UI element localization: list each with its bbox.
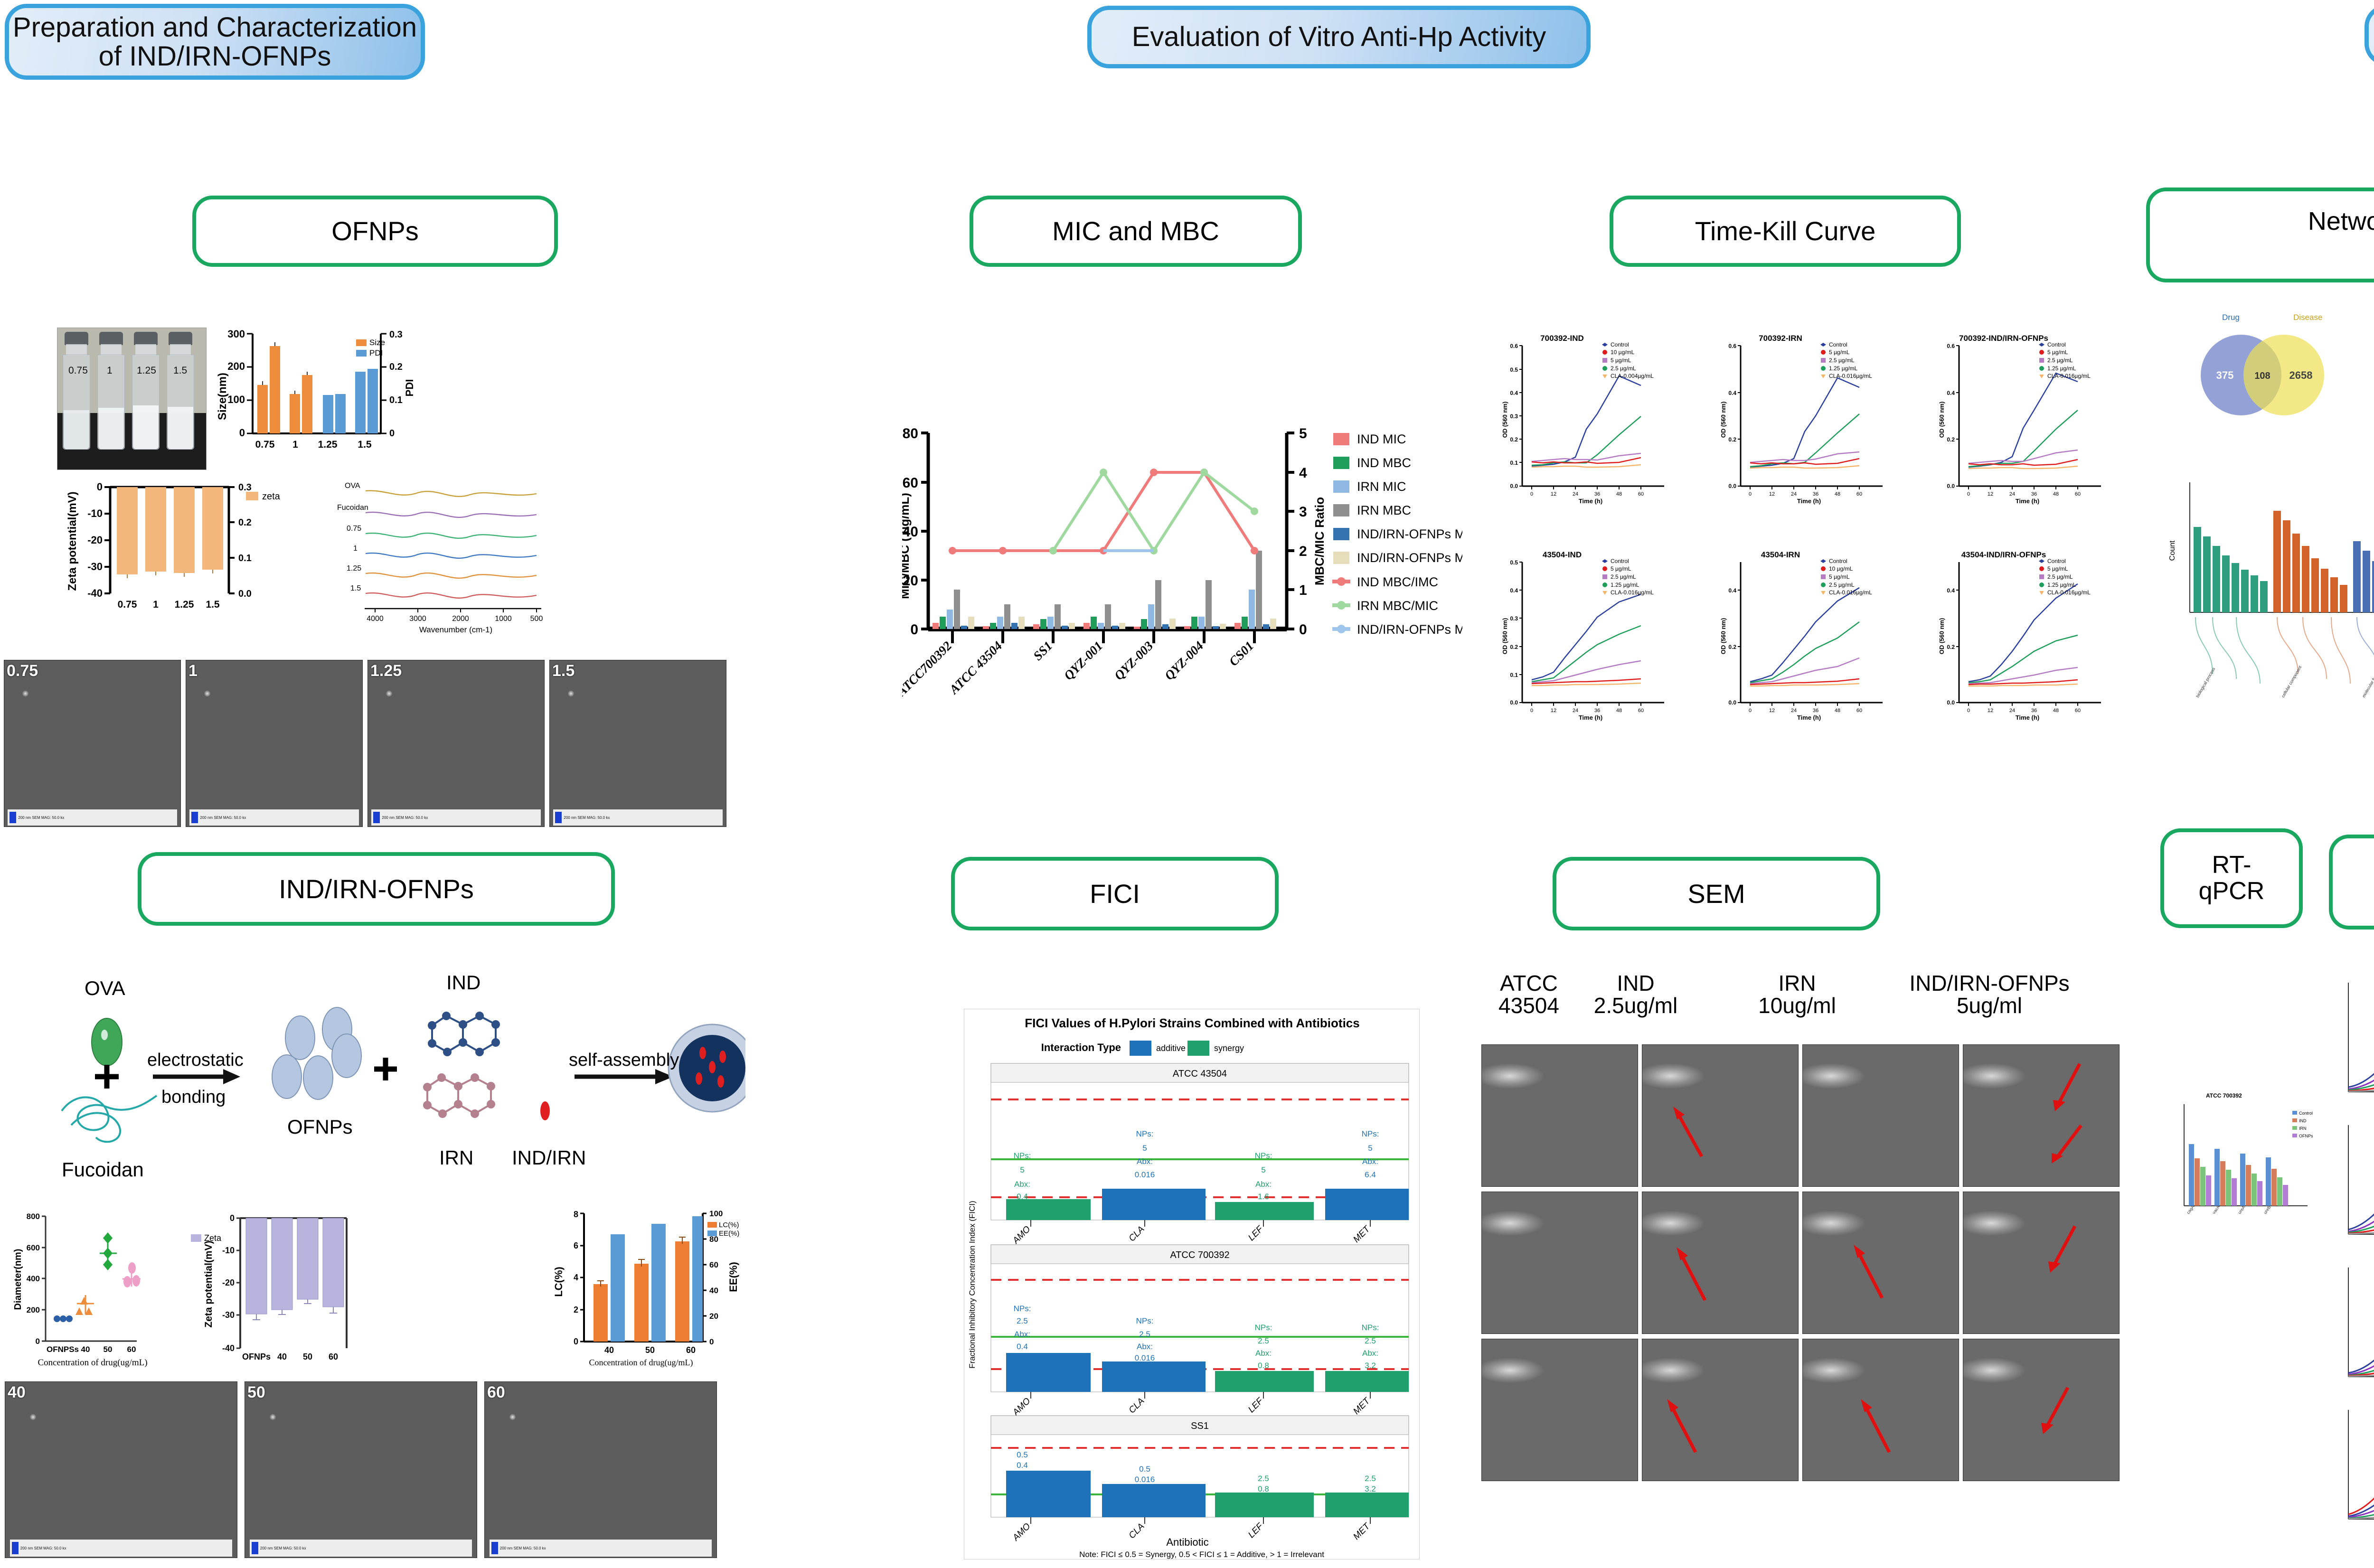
svg-text:0: 0 xyxy=(1749,491,1752,497)
svg-text:0.4: 0.4 xyxy=(1510,587,1518,594)
svg-text:0.2: 0.2 xyxy=(1728,436,1736,443)
svg-text:40: 40 xyxy=(81,1345,90,1354)
sem-cell xyxy=(1802,1044,1959,1187)
svg-text:60: 60 xyxy=(1638,708,1644,714)
svg-text:43504-IRN: 43504-IRN xyxy=(1761,550,1800,559)
svg-text:ATCC 700392: ATCC 700392 xyxy=(2206,1092,2242,1099)
svg-text:SS1: SS1 xyxy=(1191,1421,1209,1431)
sem-tile: 1.5 200 nm SEM MAG: 50.0 kx xyxy=(549,660,726,827)
svg-text:1.25: 1.25 xyxy=(318,439,338,450)
svg-text:IND MBC/IMC: IND MBC/IMC xyxy=(1357,575,1438,589)
svg-text:1.5: 1.5 xyxy=(358,439,372,450)
svg-text:48: 48 xyxy=(1616,708,1622,714)
chart-ftir: OVA Fucoidan 0.75 1 1.25 1.5 40003000 20… xyxy=(299,475,556,636)
svg-text:1.25 µg/mL: 1.25 µg/mL xyxy=(1829,365,1858,372)
svg-text:Control: Control xyxy=(1611,341,1629,348)
svg-text:0.4: 0.4 xyxy=(1728,587,1736,594)
vial-label: 1.5 xyxy=(173,365,187,376)
svg-text:ATCC 43504: ATCC 43504 xyxy=(1173,1069,1227,1079)
svg-text:AMO: AMO xyxy=(1010,1396,1032,1418)
svg-text:IND/IRN-OFNPs MBC: IND/IRN-OFNPs MBC xyxy=(1357,551,1462,565)
svg-text:4: 4 xyxy=(1299,465,1307,481)
chart-mic-mbc: 020 406080 01 23 45 MIC/MBC ( ug/mL) MBC… xyxy=(902,404,1462,745)
svg-text:Time (h): Time (h) xyxy=(1579,714,1602,721)
svg-text:12: 12 xyxy=(1769,708,1775,714)
svg-text:0.4: 0.4 xyxy=(1728,390,1736,396)
svg-text:700392-IND/IRN-OFNPs: 700392-IND/IRN-OFNPs xyxy=(1959,334,2048,343)
svg-text:NPs:: NPs: xyxy=(1014,1151,1031,1160)
svg-text:5: 5 xyxy=(1142,1144,1147,1153)
svg-text:-10: -10 xyxy=(222,1246,235,1255)
svg-text:10 µg/mL: 10 µg/mL xyxy=(1611,349,1635,356)
svg-text:0.0: 0.0 xyxy=(1947,483,1955,489)
sem-col-header: ATCC 43504 xyxy=(1481,972,1576,1017)
svg-text:500: 500 xyxy=(530,615,543,623)
svg-text:50: 50 xyxy=(645,1345,655,1355)
svg-text:-10: -10 xyxy=(87,507,103,519)
svg-text:OD (560 nm): OD (560 nm) xyxy=(1938,618,1945,655)
vial-label: 0.75 xyxy=(68,365,88,376)
svg-text:40: 40 xyxy=(709,1286,718,1295)
lc-ee-svg: 02 468 020 4060 80100 LC(%) EE(%) 405060… xyxy=(546,1206,750,1372)
svg-text:Concentration of drug(ug/mL): Concentration of drug(ug/mL) xyxy=(589,1358,693,1368)
svg-text:NPs:: NPs: xyxy=(1014,1304,1031,1313)
svg-text:400: 400 xyxy=(27,1274,40,1283)
svg-text:12: 12 xyxy=(1769,491,1775,497)
sem-tile-group-bottom: 40 200 nm SEM MAG: 50.0 kx 50 200 nm SEM… xyxy=(5,1381,731,1562)
svg-text:60: 60 xyxy=(2075,491,2081,497)
svg-text:0.5: 0.5 xyxy=(1139,1465,1150,1474)
svg-text:3.2: 3.2 xyxy=(1365,1484,1376,1493)
svg-text:0.5: 0.5 xyxy=(1510,366,1518,373)
svg-text:IND MIC: IND MIC xyxy=(1357,432,1406,446)
svg-text:8: 8 xyxy=(574,1210,578,1219)
svg-text:Abx:: Abx: xyxy=(1255,1349,1272,1358)
svg-text:375: 375 xyxy=(2216,369,2234,381)
svg-text:2: 2 xyxy=(574,1305,578,1314)
svg-text:Time (h): Time (h) xyxy=(1797,498,1821,505)
label-self-assembly: self-assembly xyxy=(569,1050,679,1070)
svg-text:80: 80 xyxy=(903,426,918,441)
sem-col-header: IND 2.5ug/ml xyxy=(1583,972,1688,1017)
svg-text:0.8: 0.8 xyxy=(1258,1361,1269,1370)
svg-text:0.4: 0.4 xyxy=(1510,390,1518,396)
svg-text:OFNPs: OFNPs xyxy=(2299,1134,2313,1138)
section-sem: SEM xyxy=(1553,857,1880,930)
sem-tile-label: 1 xyxy=(188,662,198,680)
svg-text:0: 0 xyxy=(1530,491,1533,497)
svg-text:LC(%): LC(%) xyxy=(553,1267,565,1297)
svg-text:2.5: 2.5 xyxy=(1258,1336,1269,1345)
svg-text:-40: -40 xyxy=(222,1343,235,1353)
svg-text:EE(%): EE(%) xyxy=(719,1230,739,1238)
svg-text:OFNPs: OFNPs xyxy=(242,1352,271,1361)
svg-text:0.3: 0.3 xyxy=(1510,615,1518,622)
sem-cell xyxy=(1802,1192,1959,1334)
svg-text:0.8: 0.8 xyxy=(1258,1484,1269,1493)
svg-text:3000: 3000 xyxy=(409,615,426,623)
sem-scalebar: 200 nm SEM MAG: 50.0 kx xyxy=(10,1539,232,1557)
svg-text:0.0: 0.0 xyxy=(1510,483,1518,489)
sem-scalebar-text: 200 nm SEM MAG: 50.0 kx xyxy=(20,1546,66,1550)
svg-text:0.4: 0.4 xyxy=(1017,1342,1028,1351)
svg-text:36: 36 xyxy=(1594,491,1600,497)
sem-scalebar-text: 200 nm SEM MAG: 50.0 kx xyxy=(18,816,64,820)
sem-scalebar: 200 nm SEM MAG: 50.0 kx xyxy=(371,809,540,826)
sem-scalebar: 200 nm SEM MAG: 50.0 kx xyxy=(8,809,177,826)
svg-text:2.5 µg/mL: 2.5 µg/mL xyxy=(2047,357,2073,364)
svg-text:2.5 µg/mL: 2.5 µg/mL xyxy=(2047,573,2073,580)
section-label: FICI xyxy=(1090,880,1140,908)
sem-scalebar: 200 nm SEM MAG: 50.0 kx xyxy=(553,809,722,826)
svg-text:1.25: 1.25 xyxy=(347,564,361,573)
svg-text:2.5: 2.5 xyxy=(1365,1336,1376,1345)
svg-text:24: 24 xyxy=(2009,491,2015,497)
svg-text:AMO: AMO xyxy=(1010,1521,1032,1543)
sem-tile: 40 200 nm SEM MAG: 50.0 kx xyxy=(5,1381,237,1558)
svg-text:0.3: 0.3 xyxy=(389,329,403,340)
svg-text:48: 48 xyxy=(1835,708,1840,714)
svg-text:-40: -40 xyxy=(87,587,103,599)
svg-text:FICI Values of H.Pylori Strain: FICI Values of H.Pylori Strains Combined… xyxy=(1025,1016,1359,1030)
svg-text:24: 24 xyxy=(1791,491,1797,497)
header-line: Evaluation of Vitro Anti-Hp Activity xyxy=(1132,22,1546,51)
svg-text:60: 60 xyxy=(1638,491,1644,497)
svg-text:MET: MET xyxy=(1351,1521,1372,1542)
sem-cell xyxy=(1642,1044,1799,1187)
svg-text:Abx:: Abx: xyxy=(1014,1180,1030,1189)
svg-text:48: 48 xyxy=(1616,491,1622,497)
label-irn: IRN xyxy=(439,1146,473,1169)
svg-text:MET: MET xyxy=(1351,1224,1372,1245)
svg-text:5: 5 xyxy=(1020,1165,1024,1174)
svg-text:ATCC 700392: ATCC 700392 xyxy=(1170,1250,1229,1260)
svg-text:CLA-0.016µg/mL: CLA-0.016µg/mL xyxy=(1829,589,1872,596)
svg-text:60: 60 xyxy=(329,1352,338,1361)
svg-text:NPs:: NPs: xyxy=(1136,1316,1154,1325)
svg-text:2.5: 2.5 xyxy=(1258,1474,1269,1483)
svg-text:0.75: 0.75 xyxy=(118,599,137,610)
svg-text:IRN MIC: IRN MIC xyxy=(1357,479,1406,494)
svg-text:50: 50 xyxy=(104,1345,113,1354)
svg-text:IND/IRN-OFNPs MBC/MIC: IND/IRN-OFNPs MBC/MIC xyxy=(1357,622,1462,637)
svg-text:0.4: 0.4 xyxy=(1947,587,1955,594)
svg-text:20: 20 xyxy=(709,1312,718,1321)
svg-text:OD (560 nm): OD (560 nm) xyxy=(1501,402,1508,438)
svg-text:Diameter(nm): Diameter(nm) xyxy=(13,1249,23,1310)
section-label: RT- xyxy=(2199,852,2265,878)
svg-text:Time (h): Time (h) xyxy=(2016,714,2039,721)
urease-curve-group: 700392-IND 700392-IND/IRN-OFNPs 43504-IN… xyxy=(2327,973,2374,1562)
svg-text:NPs:: NPs: xyxy=(1255,1323,1272,1332)
svg-text:Size: Size xyxy=(369,338,385,347)
section-label: MIC and MBC xyxy=(1052,217,1219,245)
svg-text:Interaction Type: Interaction Type xyxy=(1041,1042,1121,1053)
svg-text:48: 48 xyxy=(2053,708,2059,714)
svg-text:40: 40 xyxy=(604,1345,614,1355)
svg-text:0.4: 0.4 xyxy=(1947,390,1955,396)
svg-text:0: 0 xyxy=(1967,491,1970,497)
svg-text:5: 5 xyxy=(1261,1165,1265,1174)
svg-text:100: 100 xyxy=(227,394,245,405)
sem-tile: 50 200 nm SEM MAG: 50.0 kx xyxy=(245,1381,477,1558)
svg-text:2.5 µg/mL: 2.5 µg/mL xyxy=(1611,365,1636,372)
svg-text:0.2: 0.2 xyxy=(238,517,252,528)
svg-text:-20: -20 xyxy=(87,534,103,546)
svg-text:0.6: 0.6 xyxy=(1947,343,1955,349)
svg-text:EE(%): EE(%) xyxy=(727,1262,739,1292)
size-pdi-svg: 0 100 200 300 0 0.1 0.2 0.3 Size(nm) PDI… xyxy=(214,325,423,468)
svg-text:Wavenumber (cm-1): Wavenumber (cm-1) xyxy=(419,625,492,634)
svg-text:Control: Control xyxy=(2047,341,2066,348)
svg-text:0.0: 0.0 xyxy=(1947,699,1955,706)
label-electrostatic: electrostatic xyxy=(147,1050,244,1070)
svg-text:2.5: 2.5 xyxy=(1139,1330,1150,1339)
svg-text:12: 12 xyxy=(1551,708,1556,714)
svg-text:-20: -20 xyxy=(222,1278,235,1287)
svg-text:24: 24 xyxy=(1791,708,1797,714)
label-bonding: bonding xyxy=(161,1087,226,1108)
svg-text:12: 12 xyxy=(1551,491,1556,497)
svg-text:24: 24 xyxy=(1573,491,1578,497)
svg-text:MBC/MIC Ratio: MBC/MIC Ratio xyxy=(1312,497,1327,585)
svg-text:24: 24 xyxy=(2009,708,2015,714)
label-ind: IND xyxy=(446,971,480,994)
svg-text:5 µg/mL: 5 µg/mL xyxy=(2047,565,2068,572)
svg-text:24: 24 xyxy=(1573,708,1578,714)
svg-text:2000: 2000 xyxy=(452,615,469,623)
chart-rt-qpcr: ATCC 700392 cagA vacA ureA ureB xyxy=(2165,1087,2317,1244)
svg-text:5 µg/mL: 5 µg/mL xyxy=(2047,349,2068,356)
svg-text:Fractional Inhibitory Concentr: Fractional Inhibitory Concentration Inde… xyxy=(968,1201,977,1368)
section-ofnps: OFNPs xyxy=(192,196,558,267)
svg-text:Antibiotic: Antibiotic xyxy=(1166,1536,1208,1548)
venn-diagram: Drug Disease 375 108 2658 xyxy=(2165,304,2369,446)
sem-tile-group-top: 0.75 200 nm SEM MAG: 50.0 kx 1 200 nm SE… xyxy=(4,660,730,831)
svg-text:Abx:: Abx: xyxy=(1255,1180,1272,1189)
svg-text:0.3: 0.3 xyxy=(1510,413,1518,420)
svg-text:200: 200 xyxy=(27,1305,40,1314)
chart-fici: FICI Values of H.Pylori Strains Combined… xyxy=(964,1009,1420,1559)
section-fici: FICI xyxy=(951,857,1279,930)
svg-text:1.25 µg/mL: 1.25 µg/mL xyxy=(2047,365,2076,372)
svg-text:100: 100 xyxy=(709,1209,723,1218)
chart-diameter-scatter: 0200 400600800 Diameter(nm) OFNPSs40 506… xyxy=(9,1206,180,1370)
svg-text:MIC/MBC ( ug/mL): MIC/MBC ( ug/mL) xyxy=(902,493,912,599)
svg-text:Note: FICI ≤ 0.5 = Synergy, 0.: Note: FICI ≤ 0.5 = Synergy, 0.5 < FICI ≤… xyxy=(1079,1550,1324,1559)
mic-mbc-svg: 020 406080 01 23 45 MIC/MBC ( ug/mL) MBC… xyxy=(902,404,1462,745)
svg-text:Time (h): Time (h) xyxy=(2016,498,2039,505)
diameter-svg: 0200 400600800 Diameter(nm) OFNPSs40 506… xyxy=(9,1206,180,1370)
vial-photo: 0.75 1 1.25 1.5 xyxy=(57,328,207,470)
svg-text:0: 0 xyxy=(910,622,918,638)
svg-text:-30: -30 xyxy=(87,561,103,573)
time-kill-grid: 700392-IND 0.00.10.2 0.30.40.50.6 OD (56… xyxy=(1496,328,2160,745)
network-graph-radial xyxy=(2365,285,2374,456)
sem-tile-label: 1.5 xyxy=(552,662,575,680)
sem-panel-grid: ATCC 43504 IND 2.5ug/ml IRN 10ug/ml IND/… xyxy=(1477,968,2151,1562)
svg-text:OD (560 nm): OD (560 nm) xyxy=(1720,618,1727,655)
section-rt-qpcr: RT- qPCR xyxy=(2160,828,2303,928)
svg-text:12: 12 xyxy=(1988,491,1993,497)
section-label: Presiction xyxy=(2308,235,2374,262)
sem-cell xyxy=(1642,1192,1799,1334)
section-label: qPCR xyxy=(2199,878,2265,904)
svg-text:cellular component: cellular component xyxy=(2280,665,2303,698)
svg-text:0.0: 0.0 xyxy=(1728,699,1736,706)
svg-text:Zeta: Zeta xyxy=(204,1233,222,1243)
svg-text:4: 4 xyxy=(574,1273,578,1282)
svg-text:Control: Control xyxy=(1611,558,1629,564)
svg-text:43504-IND: 43504-IND xyxy=(1543,550,1582,559)
svg-text:LEF: LEF xyxy=(1246,1396,1265,1415)
svg-text:0: 0 xyxy=(1967,708,1970,714)
svg-text:CLA-0.016µg/mL: CLA-0.016µg/mL xyxy=(2047,589,2091,596)
svg-text:zeta: zeta xyxy=(262,491,281,502)
sem-col-header: IND/IRN-OFNPs 5ug/ml xyxy=(1885,972,2094,1017)
svg-text:36: 36 xyxy=(1813,708,1818,714)
svg-text:0.4: 0.4 xyxy=(1017,1461,1028,1470)
svg-text:60: 60 xyxy=(1856,708,1862,714)
svg-text:CS01: CS01 xyxy=(1226,638,1257,669)
vial-label: 1 xyxy=(107,365,113,376)
svg-text:0.016: 0.016 xyxy=(1135,1170,1155,1179)
sem-cell xyxy=(1481,1192,1638,1334)
sem-scalebar-text: 200 nm SEM MAG: 50.0 kx xyxy=(260,1546,306,1550)
sem-tile-label: 50 xyxy=(247,1383,265,1402)
svg-text:0.2: 0.2 xyxy=(1947,644,1955,650)
urease-curves-svg: 700392-IND 700392-IND/IRN-OFNPs 43504-IN… xyxy=(2327,973,2374,1562)
chart-size-pdi: 0 100 200 300 0 0.1 0.2 0.3 Size(nm) PDI… xyxy=(214,325,423,468)
svg-text:ureA: ureA xyxy=(2237,1205,2246,1215)
svg-text:60: 60 xyxy=(903,475,918,491)
label-ind-irn: IND/IRN xyxy=(512,1146,586,1169)
svg-text:36: 36 xyxy=(1813,491,1818,497)
svg-text:60: 60 xyxy=(2075,708,2081,714)
svg-text:0.6: 0.6 xyxy=(1510,343,1518,349)
svg-text:Control: Control xyxy=(2047,558,2066,564)
svg-text:1: 1 xyxy=(292,439,298,450)
svg-text:Abx:: Abx: xyxy=(1137,1157,1153,1166)
sem-tile-label: 40 xyxy=(8,1383,26,1402)
svg-text:Abx:: Abx: xyxy=(1014,1330,1030,1339)
svg-text:Abx:: Abx: xyxy=(1362,1349,1378,1358)
svg-text:40: 40 xyxy=(277,1352,287,1361)
svg-text:molecular function: molecular function xyxy=(2361,666,2374,698)
svg-text:48: 48 xyxy=(1835,491,1840,497)
sem-scalebar: 200 nm SEM MAG: 50.0 kx xyxy=(250,1539,472,1557)
sem-tile: 1 200 nm SEM MAG: 50.0 kx xyxy=(186,660,363,827)
svg-text:Control: Control xyxy=(1829,341,1847,348)
svg-text:0.1: 0.1 xyxy=(1510,672,1518,678)
svg-text:SS1: SS1 xyxy=(1030,638,1055,663)
svg-text:Drug: Drug xyxy=(2222,313,2240,322)
section-label: SEM xyxy=(1687,880,1745,908)
svg-text:CLA-0.016µg/mL: CLA-0.016µg/mL xyxy=(2047,373,2091,379)
svg-text:0.2: 0.2 xyxy=(1510,436,1518,443)
svg-text:Abx:: Abx: xyxy=(1362,1157,1378,1166)
svg-text:2.5 µg/mL: 2.5 µg/mL xyxy=(1611,573,1636,580)
svg-text:0.0: 0.0 xyxy=(1728,483,1736,489)
svg-text:0: 0 xyxy=(1530,708,1533,714)
svg-text:0.75: 0.75 xyxy=(255,439,275,450)
svg-text:60: 60 xyxy=(1856,491,1862,497)
svg-text:IRN MBC: IRN MBC xyxy=(1357,503,1411,517)
svg-text:NPs:: NPs: xyxy=(1255,1151,1272,1160)
svg-text:NPs:: NPs: xyxy=(1362,1129,1379,1138)
chart-lc-ee: 02 468 020 4060 80100 LC(%) EE(%) 405060… xyxy=(546,1206,750,1372)
svg-text:1: 1 xyxy=(353,545,358,553)
svg-text:OFNPSs: OFNPSs xyxy=(47,1345,79,1354)
svg-text:IRN: IRN xyxy=(2299,1126,2307,1131)
svg-text:Time (h): Time (h) xyxy=(1579,498,1602,505)
svg-text:2.5 µg/mL: 2.5 µg/mL xyxy=(1829,582,1855,588)
svg-text:Fucoidan: Fucoidan xyxy=(337,504,368,512)
svg-text:Control: Control xyxy=(2299,1111,2313,1116)
sem-tile: 0.75 200 nm SEM MAG: 50.0 kx xyxy=(4,660,181,827)
svg-text:2.5: 2.5 xyxy=(1017,1316,1028,1325)
svg-text:50: 50 xyxy=(303,1352,312,1361)
svg-text:0: 0 xyxy=(574,1337,578,1346)
svg-text:Size(nm): Size(nm) xyxy=(216,373,229,420)
svg-text:0.5: 0.5 xyxy=(1017,1450,1028,1459)
svg-text:0.6: 0.6 xyxy=(1728,343,1736,349)
zeta-drug-svg: 0-10 -20-30-40 Zeta potential(mV) OFNPs4… xyxy=(190,1206,389,1370)
svg-text:43504-IND/IRN-OFNPs: 43504-IND/IRN-OFNPs xyxy=(1961,550,2046,559)
svg-text:0: 0 xyxy=(97,481,103,493)
svg-text:5: 5 xyxy=(1368,1144,1372,1153)
svg-text:biological process: biological process xyxy=(2195,667,2216,698)
sem-tile-label: 0.75 xyxy=(7,662,38,680)
chart-zeta-drug: 0-10 -20-30-40 Zeta potential(mV) OFNPs4… xyxy=(190,1206,389,1370)
svg-text:5 µg/mL: 5 µg/mL xyxy=(1829,349,1850,356)
sem-cell xyxy=(1963,1044,2120,1187)
svg-text:5: 5 xyxy=(1299,426,1307,441)
zeta-ofnps-svg: 0-10 -20-30-40 0.30.2 0.10.0 Zeta potent… xyxy=(57,475,290,631)
svg-text:Control: Control xyxy=(1829,558,1847,564)
svg-text:Disease: Disease xyxy=(2293,313,2322,322)
svg-text:36: 36 xyxy=(2031,491,2037,497)
svg-text:CLA: CLA xyxy=(1127,1224,1147,1244)
svg-text:LC(%): LC(%) xyxy=(719,1221,739,1229)
svg-text:Zeta potential(mV): Zeta potential(mV) xyxy=(203,1240,214,1327)
header-preparation-characterization: Preparation and Characterization of IND/… xyxy=(5,4,425,80)
sem-cell xyxy=(1963,1339,2120,1481)
label-ofnps: OFNPs xyxy=(287,1116,353,1138)
svg-text:QYZ-004: QYZ-004 xyxy=(1162,638,1206,683)
self-assembly-schematic: OVA Fucoidan electrostatic bonding OFNPs… xyxy=(5,968,745,1192)
svg-text:3.2: 3.2 xyxy=(1365,1361,1376,1370)
svg-text:2658: 2658 xyxy=(2289,369,2313,381)
svg-text:1.6: 1.6 xyxy=(1258,1192,1269,1201)
svg-text:Abx:: Abx: xyxy=(1137,1342,1153,1351)
svg-text:12: 12 xyxy=(1988,708,1993,714)
sem-scalebar-text: 200 nm SEM MAG: 50.0 kx xyxy=(200,816,246,820)
sem-cell xyxy=(1481,1044,1638,1187)
label-fucoidan: Fucoidan xyxy=(62,1158,144,1181)
svg-text:1: 1 xyxy=(1299,582,1307,598)
svg-text:QYZ-003: QYZ-003 xyxy=(1112,638,1156,683)
header-mechanistic-study: Mechanistic Study xyxy=(2365,5,2374,66)
section-label: Network Pharmacology xyxy=(2308,208,2374,235)
svg-text:5 µg/mL: 5 µg/mL xyxy=(1611,565,1631,572)
svg-text:IND MBC: IND MBC xyxy=(1357,456,1411,470)
sem-cell xyxy=(1481,1339,1638,1481)
svg-text:2.5 µg/mL: 2.5 µg/mL xyxy=(1829,357,1855,364)
svg-text:60: 60 xyxy=(686,1345,696,1355)
svg-text:36: 36 xyxy=(1594,708,1600,714)
svg-text:IND: IND xyxy=(2299,1118,2307,1123)
